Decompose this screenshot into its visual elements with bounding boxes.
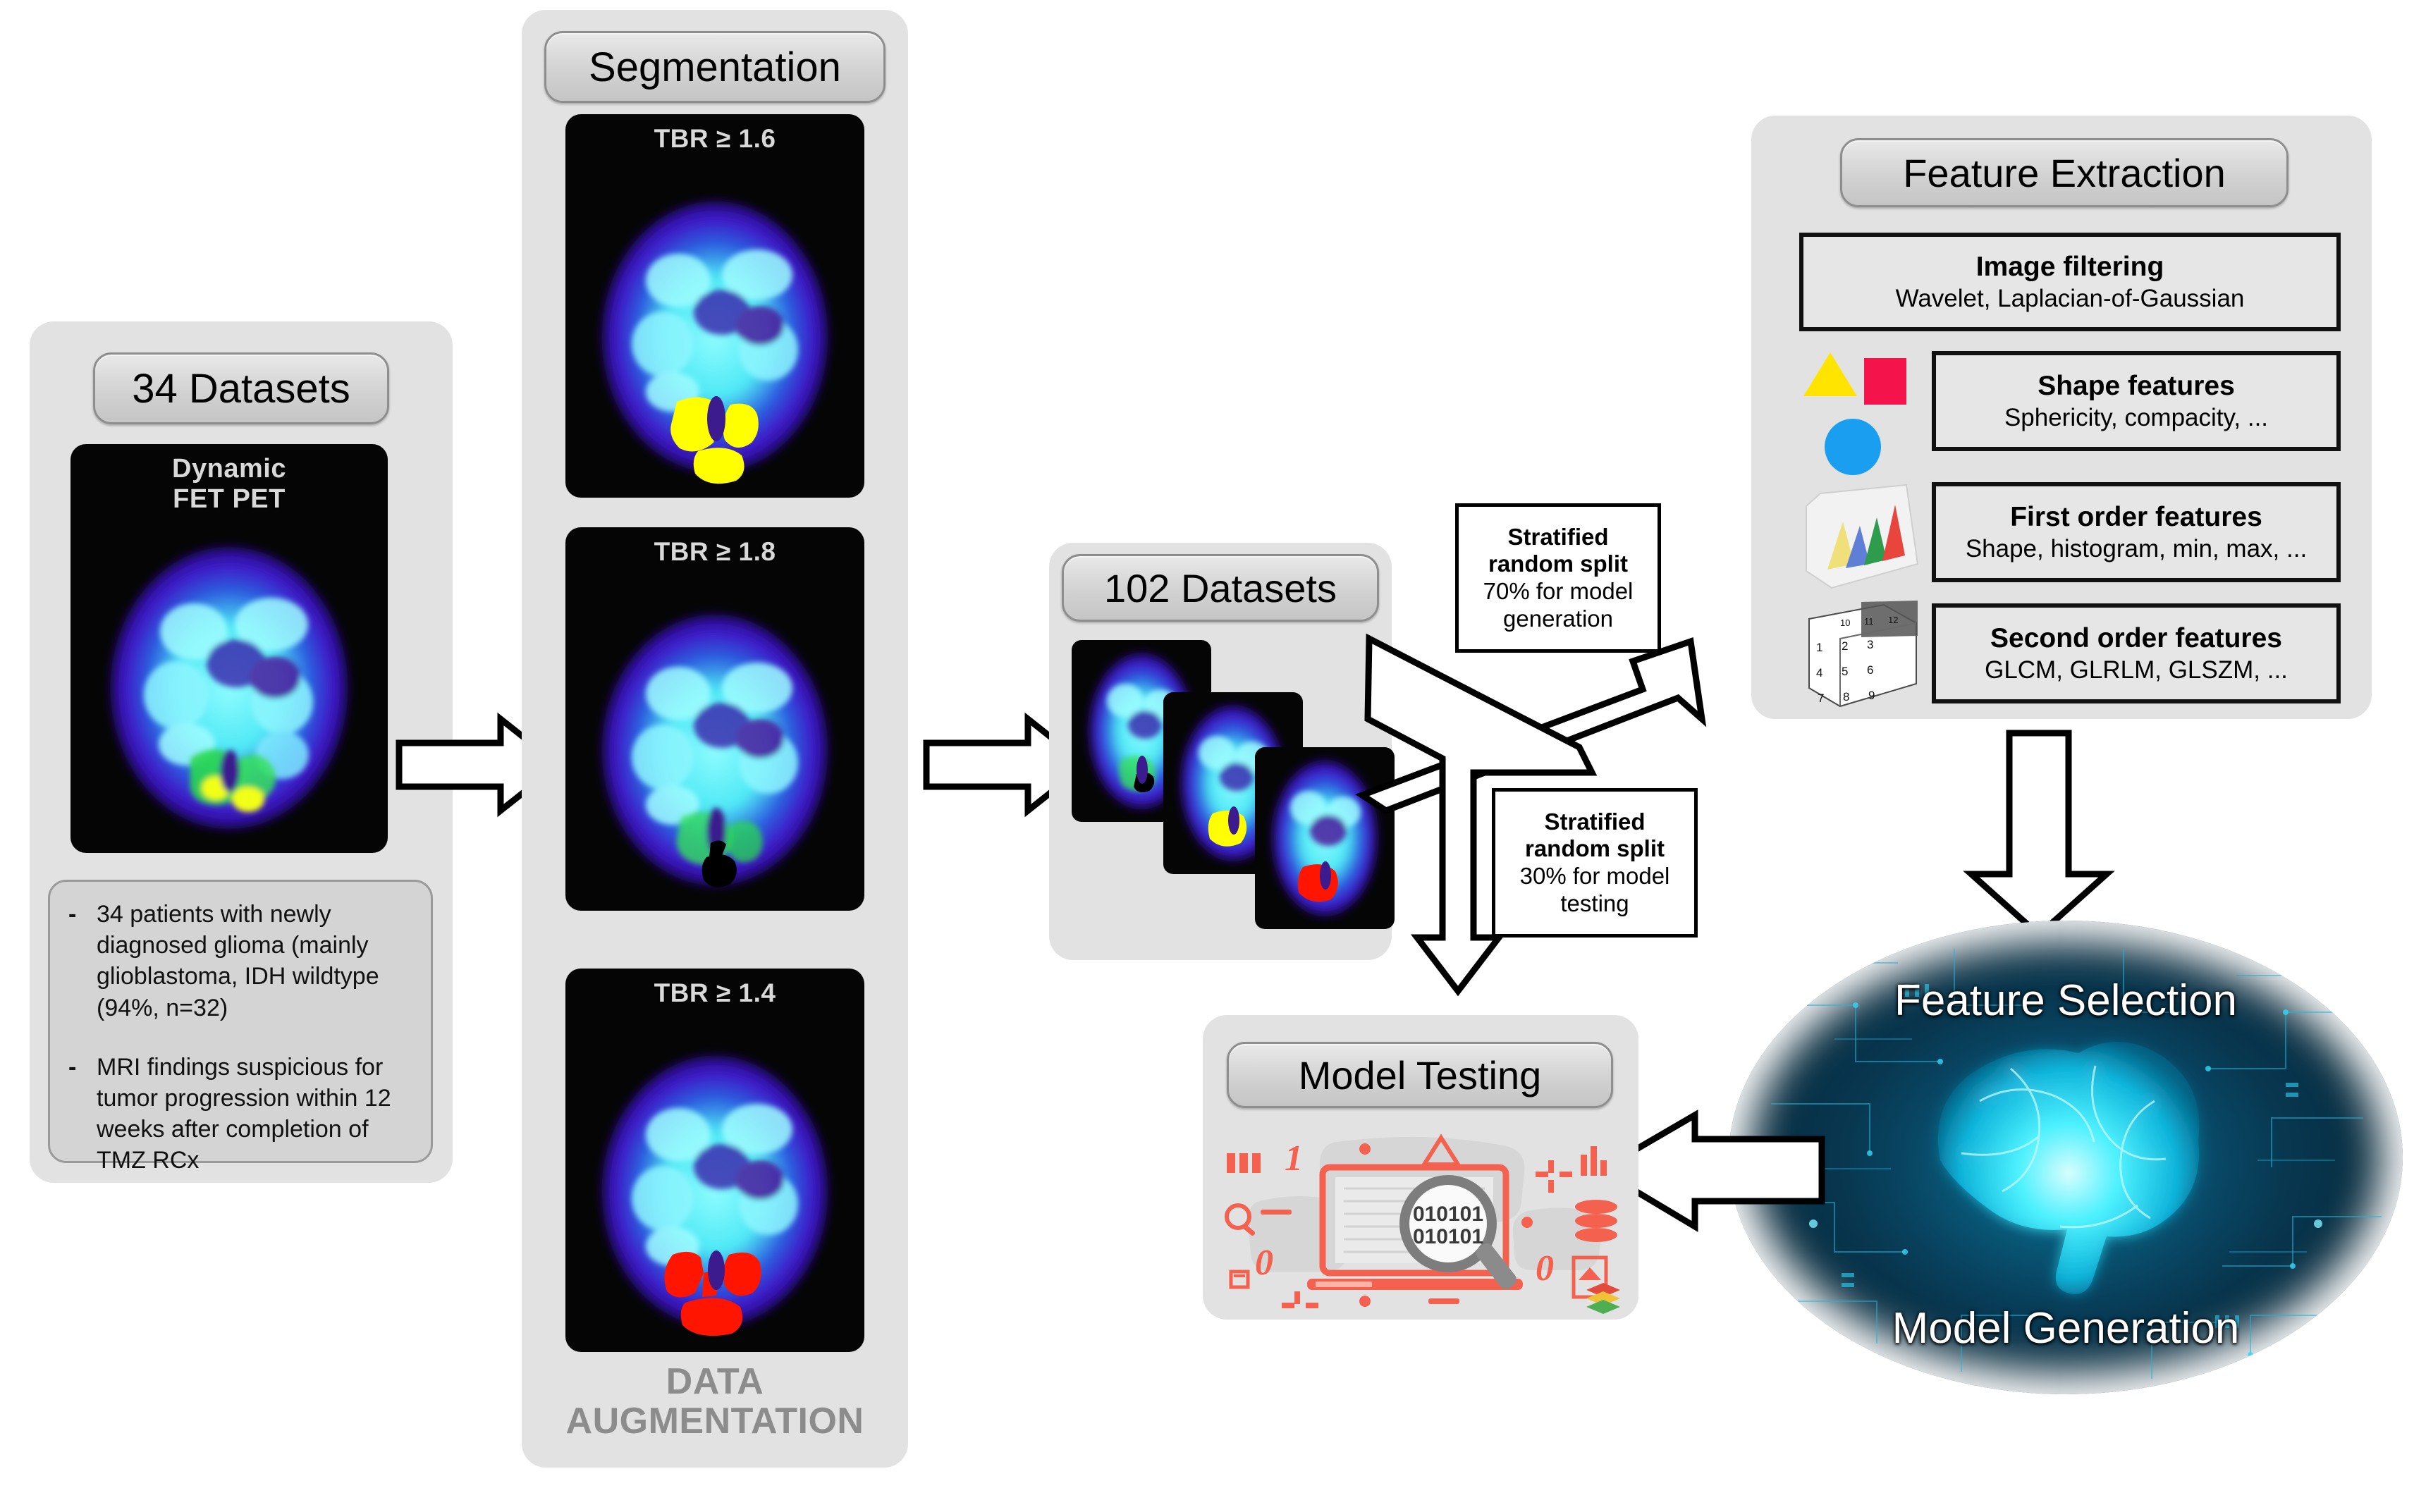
pet-scan-graphic-dynamic [71, 512, 388, 853]
svg-text:9: 9 [1868, 689, 1875, 702]
circle-icon [1825, 419, 1881, 475]
arrow-feature-extraction-to-brain [1961, 729, 2116, 940]
bullet-marker: - [68, 1052, 78, 1176]
svg-text:6: 6 [1867, 663, 1873, 677]
title-102-datasets: 102 Datasets [1062, 554, 1379, 622]
shapes-icon [1799, 348, 1915, 482]
bullet-text: MRI findings suspicious for tumor progre… [97, 1052, 417, 1176]
feature-detail: Wavelet, Laplacian-of-Gaussian [1896, 285, 2245, 312]
feature-heading: First order features [2010, 502, 2262, 533]
svg-text:3: 3 [1867, 638, 1873, 651]
brain-bottom-label: Model Generation [1729, 1303, 2403, 1353]
binary-line-2: 010101 [1413, 1225, 1483, 1248]
list-item: - MRI findings suspicious for tumor prog… [68, 1052, 417, 1176]
model-testing-illustration: 010101 010101 [1217, 1133, 1626, 1310]
workflow-diagram: 34 Datasets Dynamic FET PET [0, 0, 2414, 1512]
list-item: - 34 patients with newly diagnosed gliom… [68, 899, 417, 1024]
svg-text:4: 4 [1816, 666, 1822, 680]
pet-label-tbr-16: TBR ≥ 1.6 [565, 124, 864, 154]
split-line2: random split [1488, 551, 1628, 578]
float-digit-1: 1 [1285, 1138, 1303, 1179]
triangle-icon [1803, 352, 1857, 396]
tumor-overlay-yellow [670, 396, 759, 484]
arrow-split-30-to-model-testing [1368, 634, 1692, 1015]
pet-label-line1: Dynamic [71, 454, 388, 484]
pet-image-dynamic: Dynamic FET PET [71, 444, 388, 853]
title-34-datasets: 34 Datasets [93, 352, 389, 424]
feature-box-image-filtering: Image filtering Wavelet, Laplacian-of-Ga… [1799, 233, 2341, 331]
feature-box-second-order: Second order features GLCM, GLRLM, GLSZM… [1932, 603, 2341, 703]
svg-text:10: 10 [1840, 617, 1850, 628]
brain-icon [1938, 1042, 2199, 1294]
title-feature-extraction: Feature Extraction [1840, 138, 2289, 207]
pet-label-tbr-14: TBR ≥ 1.4 [565, 978, 864, 1008]
title-segmentation: Segmentation [544, 31, 886, 103]
feature-detail: GLCM, GLRLM, GLSZM, ... [1985, 656, 2288, 684]
svg-text:12: 12 [1888, 615, 1898, 625]
augmentation-line1: DATA [522, 1362, 908, 1401]
svg-text:7: 7 [1818, 692, 1824, 705]
brain-model-generation-oval: Feature Selection Model Generation [1729, 921, 2403, 1394]
pet-label-line2: FET PET [71, 484, 388, 515]
svg-text:11: 11 [1864, 616, 1874, 627]
pet-scan-graphic-tbr-16 [565, 168, 864, 498]
float-digit-3: 0 [1536, 1248, 1554, 1289]
histogram-cube-icon [1799, 481, 1923, 594]
feature-box-shape-features: Shape features Sphericity, compacity, ..… [1932, 351, 2341, 451]
square-icon [1864, 358, 1906, 405]
pet-label-dynamic: Dynamic FET PET [71, 454, 388, 515]
pet-image-tbr-14: TBR ≥ 1.4 [565, 969, 864, 1352]
brain-top-label: Feature Selection [1729, 976, 2403, 1026]
feature-detail: Sphericity, compacity, ... [2004, 404, 2268, 431]
pet-scan-graphic-tbr-14 [565, 1022, 864, 1352]
svg-text:5: 5 [1842, 665, 1848, 678]
bullet-marker: - [68, 899, 78, 1024]
svg-text:2: 2 [1842, 639, 1848, 653]
pet-label-tbr-18: TBR ≥ 1.8 [565, 537, 864, 567]
feature-heading: Second order features [1990, 623, 2282, 654]
books-icon [1586, 1283, 1620, 1314]
data-augmentation-caption: DATA AUGMENTATION [522, 1362, 908, 1441]
svg-text:8: 8 [1843, 690, 1849, 703]
bullet-text: 34 patients with newly diagnosed glioma … [97, 899, 417, 1024]
svg-text:1: 1 [1816, 641, 1822, 654]
binary-line-1: 010101 [1413, 1203, 1483, 1226]
split-line1: Stratified [1507, 524, 1608, 551]
augmentation-line2: AUGMENTATION [522, 1401, 908, 1441]
pet-image-tbr-16: TBR ≥ 1.6 [565, 114, 864, 498]
float-digit-2: 0 [1255, 1243, 1273, 1283]
pet-scan-graphic-tbr-18 [565, 581, 864, 911]
feature-heading: Image filtering [1976, 252, 2164, 283]
feature-detail: Shape, histogram, min, max, ... [1966, 535, 2307, 563]
tumor-overlay-red [664, 1250, 761, 1336]
title-model-testing: Model Testing [1227, 1042, 1613, 1108]
feature-heading: Shape features [2038, 371, 2235, 402]
split-line3: 70% for model [1483, 578, 1634, 606]
matrix-cube-icon: 123 456 789 101112 [1799, 595, 1923, 713]
pet-image-tbr-18: TBR ≥ 1.8 [565, 527, 864, 911]
patient-criteria-box: - 34 patients with newly diagnosed gliom… [48, 880, 433, 1163]
feature-box-first-order: First order features Shape, histogram, m… [1932, 482, 2341, 582]
